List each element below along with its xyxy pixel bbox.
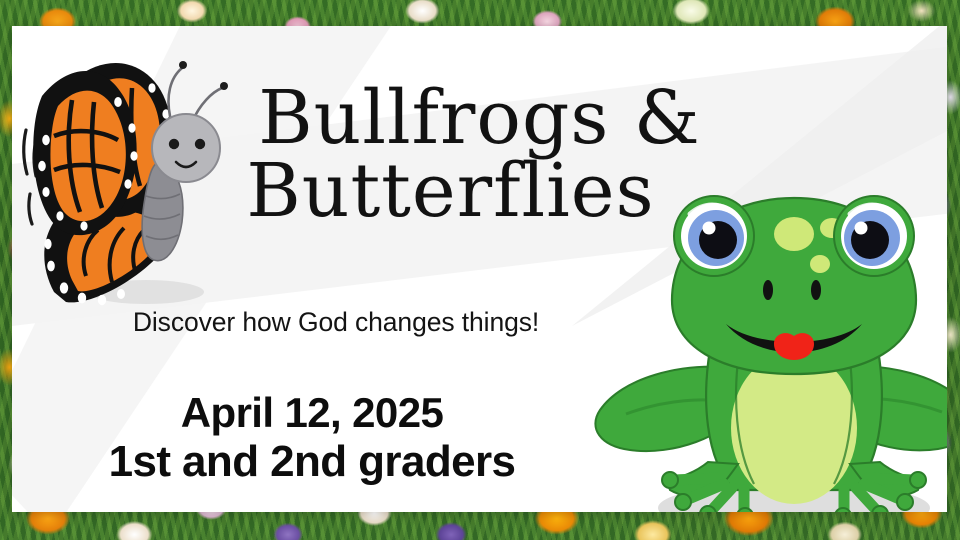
event-date: April 12, 2025	[12, 389, 612, 436]
frog-eye-left	[674, 196, 754, 276]
event-details: April 12, 2025 1st and 2nd graders	[12, 389, 612, 487]
butterfly-eye	[169, 139, 179, 149]
frog-nostril	[763, 280, 773, 300]
white-content-card: Bullfrogs & Butterflies Discover how God…	[12, 26, 947, 512]
frog-illustration	[608, 178, 947, 512]
butterfly-antennae	[169, 68, 223, 122]
butterfly-head	[152, 114, 220, 182]
antenna-tip	[179, 61, 187, 69]
frog-eye-right	[834, 196, 914, 276]
frog-head	[672, 196, 916, 374]
antenna-tip	[220, 82, 228, 90]
butterfly-eye	[195, 139, 205, 149]
flyer-root: Bullfrogs & Butterflies Discover how God…	[0, 0, 960, 540]
butterfly-illustration	[20, 44, 230, 314]
event-audience: 1st and 2nd graders	[12, 436, 612, 487]
frog-head-spot	[810, 255, 830, 273]
frog-head-spot	[774, 217, 814, 251]
frog-nostril	[811, 280, 821, 300]
